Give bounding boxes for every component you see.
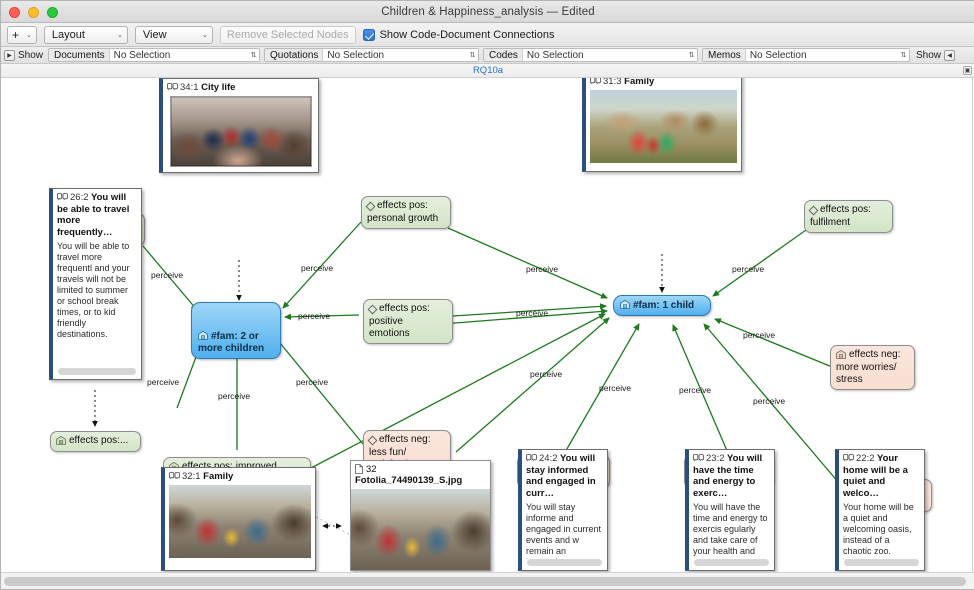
quotation-header: 32:1 Family <box>165 468 315 485</box>
document-title: Fotolia_74490139_S.jpg <box>355 475 462 486</box>
canvas-right-border <box>972 78 973 573</box>
close-tab-icon[interactable]: ▣ <box>963 66 972 75</box>
code-node-effects-pos-fulfilment[interactable]: effects pos: fulfilment <box>804 200 893 233</box>
stepper-icon[interactable]: ⇅ <box>248 49 259 61</box>
quotation-body: You will be able to travel more frequent… <box>53 240 141 368</box>
code-node-effects-pos-truncated[interactable]: effects pos:... <box>50 431 141 452</box>
layout-dropdown[interactable]: Layout ⌄ <box>44 26 128 44</box>
quotation-icon <box>57 193 68 201</box>
stepper-icon[interactable]: ⇅ <box>898 49 909 61</box>
quotation-ref: 34:1 <box>180 82 199 93</box>
filter-documents[interactable]: Documents No Selection ⇅ <box>48 48 260 62</box>
filter-memos[interactable]: Memos No Selection ⇅ <box>702 48 910 62</box>
diamond-icon <box>810 205 817 217</box>
quotation-icon <box>590 78 601 85</box>
city-crowd-photo <box>171 97 311 167</box>
quotation-node-24-2-stay-informed[interactable]: 24:2 You will stay informed and engaged … <box>518 449 608 571</box>
quotation-ref: 26:2 <box>70 192 89 203</box>
filter-quotations-label: Quotations <box>265 49 323 61</box>
chevron-down-icon: ⌄ <box>117 31 123 39</box>
fam-node-label: #fam: 1 child <box>633 300 694 311</box>
quotation-photo-frame <box>165 485 315 559</box>
quotation-node-31-3-family[interactable]: 31:3 Family <box>582 78 742 172</box>
document-header: 32 Fotolia_74490139_S.jpg <box>351 461 490 489</box>
quotation-body: Your home will be a quiet and welcoming … <box>839 501 924 559</box>
filter-documents-value: No Selection <box>110 49 248 61</box>
show-left-label: Show <box>18 50 43 61</box>
filter-memos-value: No Selection <box>746 49 898 61</box>
quotation-icon <box>843 454 854 462</box>
document-ref: 32 <box>366 464 377 475</box>
scrollbar-thumb[interactable] <box>4 577 966 586</box>
stepper-icon[interactable]: ⇅ <box>686 49 697 61</box>
quotation-title: Family <box>203 471 233 482</box>
quotation-body: You will stay informe and engaged in cur… <box>522 501 607 559</box>
window-traffic-lights <box>9 7 58 18</box>
card-scrollbar[interactable] <box>694 559 769 566</box>
stepper-icon[interactable]: ⇅ <box>467 49 478 61</box>
quotation-header: 24:2 You will stay informed and engaged … <box>522 450 607 501</box>
diamond-icon <box>367 201 374 213</box>
code-node-effects-pos-personal-growth[interactable]: effects pos: personal growth <box>361 196 451 229</box>
filter-quotations-value: No Selection <box>323 49 467 61</box>
view-dropdown[interactable]: View ⌄ <box>135 26 213 44</box>
show-code-document-connections-label: Show Code-Document Connections <box>380 29 555 41</box>
code-node-label: effects pos:... <box>69 435 128 446</box>
quotation-icon <box>169 472 180 480</box>
panel-collapse-icon[interactable]: ◀ <box>944 50 955 61</box>
network-canvas[interactable]: perceive perceive perceive perceive perc… <box>1 78 974 573</box>
code-node-fam-2-or-more-children[interactable]: #fam: 2 or more children <box>191 302 281 359</box>
village-family-photo <box>590 90 737 164</box>
card-scrollbar[interactable] <box>844 559 919 566</box>
network-tabbar: RQ10a ▣ <box>1 64 974 78</box>
code-icon <box>198 318 208 343</box>
filter-codes-label: Codes <box>484 49 523 61</box>
code-node-label: effects pos: positive emotions <box>369 303 430 339</box>
quotation-ref: 24:2 <box>539 453 558 464</box>
canvas-horizontal-scrollbar[interactable] <box>1 572 974 589</box>
code-icon <box>56 435 66 448</box>
show-code-document-connections-checkbox[interactable] <box>363 29 375 41</box>
filter-memos-label: Memos <box>703 49 746 61</box>
zoom-window-button[interactable] <box>47 7 58 18</box>
card-scrollbar[interactable] <box>527 559 602 566</box>
remove-selected-nodes-button[interactable]: Remove Selected Nodes <box>220 26 356 44</box>
quotation-photo-frame <box>163 96 318 173</box>
show-right-label: Show <box>916 50 941 61</box>
view-dropdown-label: View <box>143 29 167 41</box>
tab-rq10a[interactable]: RQ10a <box>473 65 503 76</box>
quotation-node-23-2-time-and-energy[interactable]: 23:2 You will have the time and energy t… <box>685 449 775 571</box>
quotation-ref: 32:1 <box>182 471 201 482</box>
minimize-window-button[interactable] <box>28 7 39 18</box>
show-left-toggle[interactable]: ▶ Show <box>1 50 48 61</box>
street-family-photo <box>351 489 490 570</box>
quotation-ref: 23:2 <box>706 453 725 464</box>
layout-dropdown-label: Layout <box>52 29 85 41</box>
filter-codes[interactable]: Codes No Selection ⇅ <box>483 48 698 62</box>
code-node-label: effects pos: fulfilment <box>810 204 871 228</box>
diamond-icon <box>369 304 376 316</box>
quotation-title: Family <box>624 78 654 87</box>
atlas-ti-network-window: Children & Happiness_analysis — Edited +… <box>0 0 974 590</box>
add-node-button[interactable]: + ⌄ <box>7 26 37 44</box>
quotation-header: 23:2 You will have the time and energy t… <box>689 450 774 501</box>
quotation-body: You will have the time and energy to exe… <box>689 501 774 559</box>
filter-documents-label: Documents <box>49 49 110 61</box>
filter-codes-value: No Selection <box>523 49 686 61</box>
code-icon <box>836 349 846 362</box>
document-node-32-fotolia[interactable]: 32 Fotolia_74490139_S.jpg <box>350 460 491 571</box>
code-node-fam-1-child[interactable]: #fam: 1 child <box>613 295 711 316</box>
quotation-header: 34:1 City life <box>163 79 318 96</box>
quotation-icon <box>526 454 537 462</box>
quotation-header: 22:2 Your home will be a quiet and welco… <box>839 450 924 501</box>
show-code-document-connections-row[interactable]: Show Code-Document Connections <box>363 29 555 41</box>
quotation-ref: 22:2 <box>856 453 875 464</box>
quotation-title: City life <box>201 82 235 93</box>
street-family-photo <box>169 485 311 559</box>
filter-bar: ▶ Show Documents No Selection ⇅ Quotatio… <box>1 47 974 64</box>
quotation-icon <box>693 454 704 462</box>
quotation-photo-frame <box>586 90 741 172</box>
card-footer <box>165 558 315 570</box>
document-photo-frame <box>351 489 490 570</box>
window-title: Children & Happiness_analysis — Edited <box>1 6 974 18</box>
quotation-node-34-1-city-life[interactable]: 34:1 City life <box>159 78 319 173</box>
quotation-header: 26:2 You will be able to travel more fre… <box>53 189 141 240</box>
close-window-button[interactable] <box>9 7 20 18</box>
plus-icon: + <box>12 29 19 41</box>
window-titlebar: Children & Happiness_analysis — Edited <box>1 1 974 23</box>
chevron-down-icon: ⌄ <box>26 31 32 39</box>
quotation-ref: 31:3 <box>603 78 622 87</box>
filter-quotations[interactable]: Quotations No Selection ⇅ <box>264 48 479 62</box>
show-right-toggle[interactable]: Show ◀ <box>914 50 955 61</box>
chevron-down-icon: ⌄ <box>202 31 208 39</box>
document-icon <box>355 464 363 474</box>
quotation-node-22-2-quiet-home[interactable]: 22:2 Your home will be a quiet and welco… <box>835 449 925 571</box>
diamond-icon <box>369 435 376 447</box>
quotation-header: 31:3 Family <box>586 78 741 90</box>
quotation-node-32-1-family[interactable]: 32:1 Family <box>161 467 316 571</box>
code-node-label: effects pos: personal growth <box>367 200 438 224</box>
code-node-effects-pos-positive-emotions[interactable]: effects pos: positive emotions <box>363 299 453 344</box>
card-scrollbar[interactable] <box>58 368 136 375</box>
quotation-icon <box>167 83 178 91</box>
code-node-effects-neg-more-worries-stress[interactable]: effects neg: more worries/ stress <box>830 345 915 390</box>
network-toolbar: + ⌄ Layout ⌄ View ⌄ Remove Selected Node… <box>1 23 974 47</box>
panel-expand-icon[interactable]: ▶ <box>4 50 15 61</box>
code-icon <box>620 299 630 312</box>
quotation-node-26-2-travel[interactable]: 26:2 You will be able to travel more fre… <box>49 188 142 380</box>
